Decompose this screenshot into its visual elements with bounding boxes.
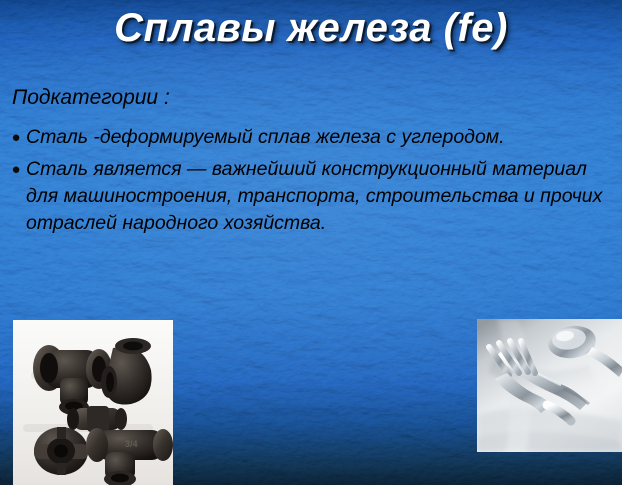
list-item: ● Сталь является — важнейший конструкцио…	[8, 156, 608, 237]
list-item: ● Сталь -деформируемый сплав железа с уг…	[8, 124, 608, 151]
list-item-text: Сталь -деформируемый сплав железа с угле…	[24, 124, 608, 151]
svg-text:3/4: 3/4	[125, 439, 138, 449]
presentation-slide: Сплавы железа (fe) Подкатегории : ● Стал…	[0, 0, 622, 485]
bullet-marker-icon: ●	[8, 124, 24, 151]
bullet-list: ● Сталь -деформируемый сплав железа с уг…	[8, 124, 608, 242]
cast-iron-pipe-fittings-photo: 3/4	[13, 320, 173, 485]
slide-title: Сплавы железа (fe)	[0, 6, 622, 51]
stainless-steel-cutlery-photo	[477, 319, 622, 452]
list-item-text: Сталь является — важнейший конструкционн…	[24, 156, 608, 237]
subcategories-heading: Подкатегории :	[12, 86, 170, 110]
bullet-marker-icon: ●	[8, 156, 24, 183]
